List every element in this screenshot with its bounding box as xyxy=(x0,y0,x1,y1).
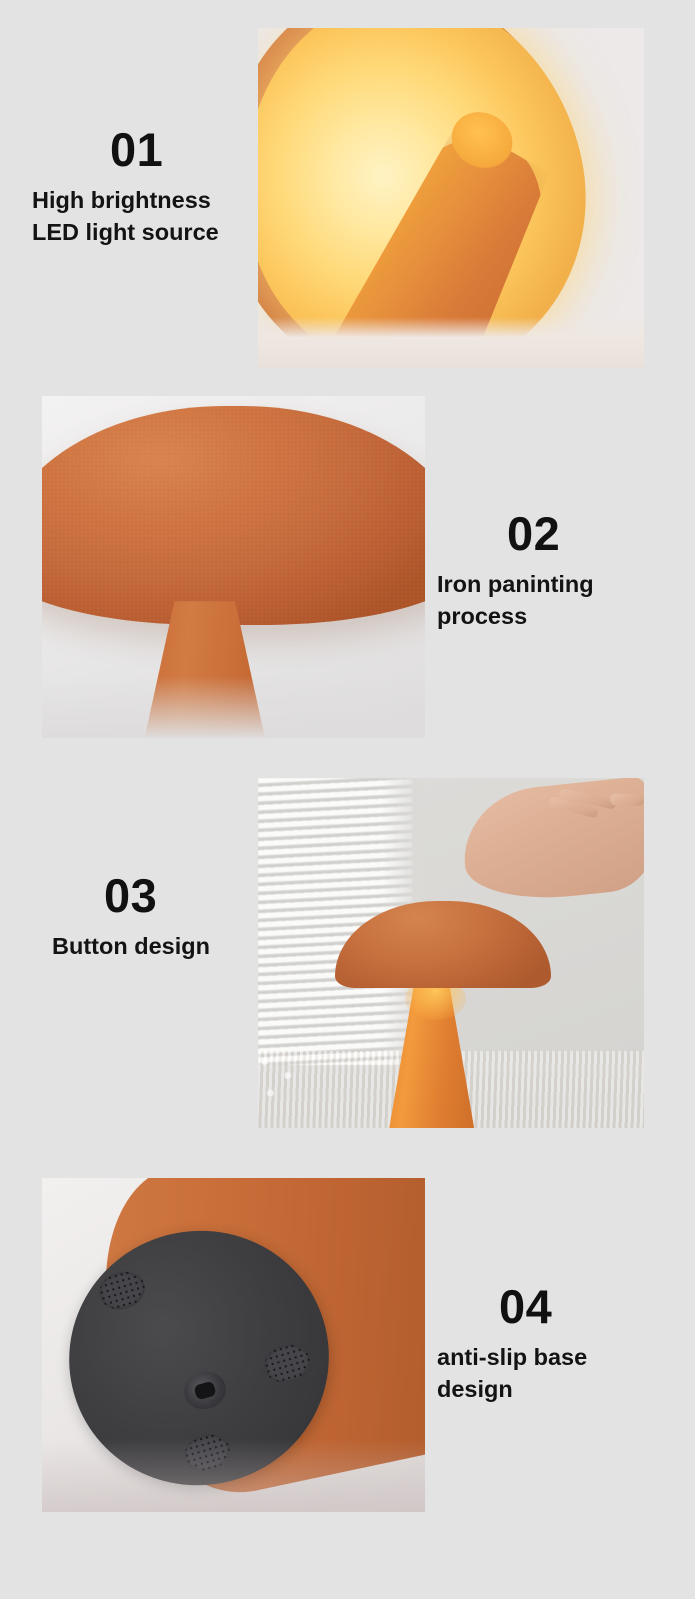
feature-number-01: 01 xyxy=(110,126,252,173)
feature-image-03 xyxy=(258,778,644,1128)
surface-shadow xyxy=(42,676,425,738)
surface-shadow xyxy=(42,1439,425,1512)
tabletop-surface xyxy=(258,317,644,368)
feature-caption-02: 02 Iron paninting process xyxy=(437,510,667,633)
feature-text-04: anti-slip base design xyxy=(437,1342,667,1406)
feature-number-04: 04 xyxy=(499,1283,667,1330)
bubble-candle xyxy=(258,1044,308,1114)
feature-number-03: 03 xyxy=(104,872,262,919)
feature-caption-03: 03 Button design xyxy=(52,872,262,963)
product-feature-page: 01 High brightness LED light source 02 I… xyxy=(0,0,695,1599)
feature-image-01 xyxy=(258,28,644,368)
thumb xyxy=(609,793,644,805)
feature-caption-01: 01 High brightness LED light source xyxy=(32,126,252,249)
feature-caption-04: 04 anti-slip base design xyxy=(437,1283,667,1406)
feature-number-02: 02 xyxy=(507,510,667,557)
feature-text-03: Button design xyxy=(52,931,262,963)
feature-text-02: Iron paninting process xyxy=(437,569,667,633)
paint-texture-overlay xyxy=(42,406,425,625)
feature-text-01: High brightness LED light source xyxy=(32,185,252,249)
feature-image-04 xyxy=(42,1178,425,1512)
feature-image-02 xyxy=(42,396,425,738)
